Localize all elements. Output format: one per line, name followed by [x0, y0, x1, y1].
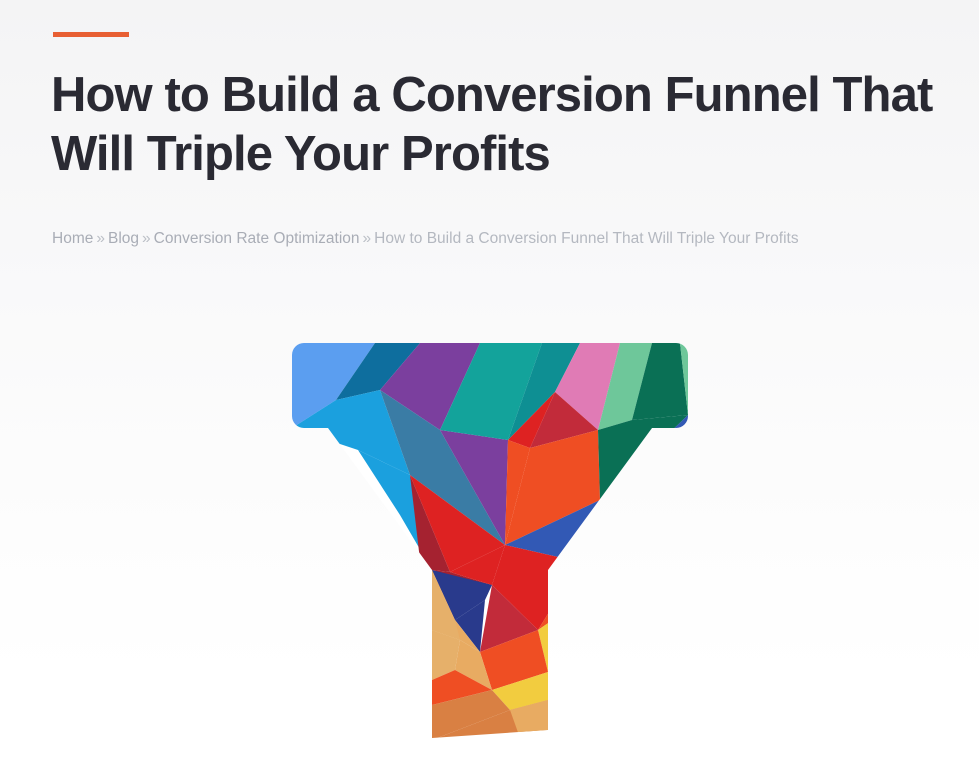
polygon-dark-green-right	[598, 415, 688, 500]
breadcrumb-separator: »	[93, 230, 108, 247]
article-page: How to Build a Conversion Funnel That Wi…	[0, 0, 979, 770]
page-title: How to Build a Conversion Funnel That Wi…	[51, 66, 951, 184]
breadcrumb-separator: »	[139, 230, 154, 247]
breadcrumb-item-blog[interactable]: Blog	[108, 230, 139, 247]
breadcrumb-item-current: How to Build a Conversion Funnel That Wi…	[374, 230, 798, 247]
breadcrumb-separator: »	[360, 230, 375, 247]
polygon-gold-right	[582, 558, 625, 640]
polygon-orange-right-top	[580, 558, 625, 568]
polygon-orangered-right	[538, 562, 610, 630]
breadcrumb-item-conversion-rate-optimization[interactable]: Conversion Rate Optimization	[154, 230, 360, 247]
hero-figure	[0, 300, 979, 770]
conversion-funnel-illustration	[280, 300, 700, 740]
breadcrumb-item-home[interactable]: Home	[52, 230, 93, 247]
funnel-polygons	[280, 300, 700, 740]
breadcrumb: Home»Blog»Conversion Rate Optimization»H…	[52, 229, 799, 249]
orange-accent-bar	[53, 32, 129, 37]
